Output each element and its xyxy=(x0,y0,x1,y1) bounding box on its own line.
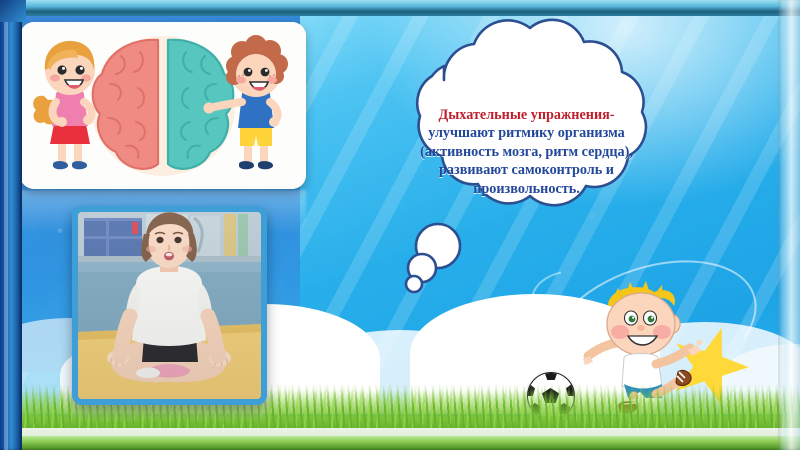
bubble-line-5: произвольность. xyxy=(404,180,649,198)
frame-corner-top-left xyxy=(0,0,26,22)
frame-left-highlight xyxy=(4,0,8,450)
frame-bottom xyxy=(0,436,800,450)
girl-breathing-exercise-photo[interactable] xyxy=(72,206,267,405)
thought-bubble-text: Дыхательные упражнения- улучшают ритмику… xyxy=(404,106,649,198)
frame-right xyxy=(778,0,800,450)
bubble-line-3: (активность мозга, ритм сердца), xyxy=(404,143,649,161)
bubble-line-2: улучшают ритмику организма xyxy=(404,124,649,142)
bubble-line-1: Дыхательные упражнения- xyxy=(404,106,649,124)
bubble-line-4: развивают самоконтроль и xyxy=(404,161,649,179)
slide-canvas: Дыхательные упражнения- улучшают ритмику… xyxy=(0,0,800,450)
frame-top xyxy=(0,0,800,16)
thought-bubble[interactable]: Дыхательные упражнения- улучшают ритмику… xyxy=(352,18,700,318)
brain-illustration-card[interactable] xyxy=(20,22,306,189)
